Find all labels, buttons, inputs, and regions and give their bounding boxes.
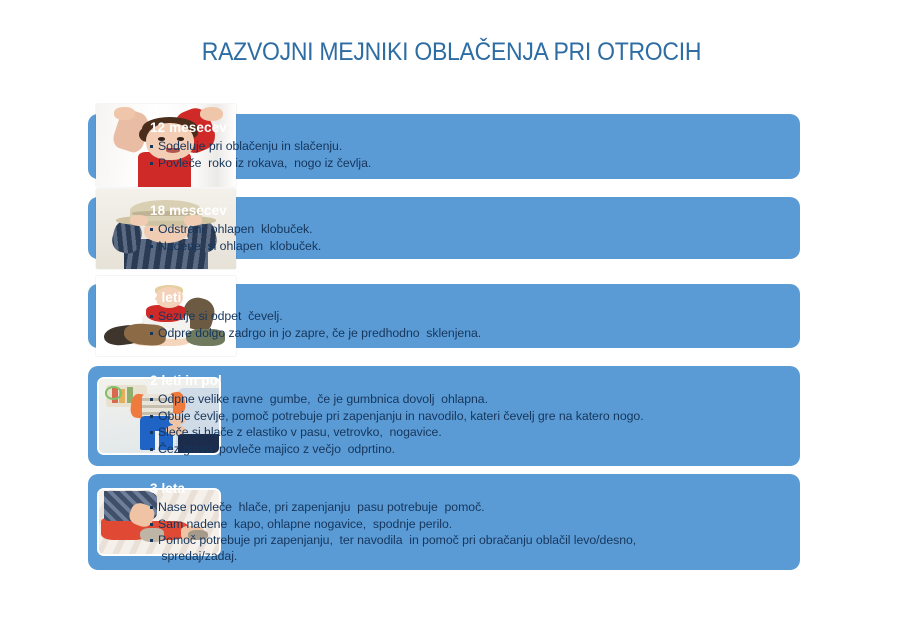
milestone-row: 2 leti in pol Odpne velike ravne gumbe, … xyxy=(0,366,903,474)
milestone-row: 12 mesecev Sodeluje pri oblačenju in sla… xyxy=(0,104,903,189)
bullet-item: Sodeluje pri oblačenju in slačenju. xyxy=(150,139,893,155)
milestone-row: 3 leta Nase povleče hlače, pri zapenjanj… xyxy=(0,474,903,574)
age-heading: 18 mesecev xyxy=(150,203,893,219)
age-heading: 2 leti xyxy=(150,290,893,306)
bullet-item: Sam nadene kapo, ohlapne nogavice, spodn… xyxy=(150,517,893,533)
bullet-list: Sodeluje pri oblačenju in slačenju. Povl… xyxy=(150,139,893,171)
milestone-text: 2 leti Sezuje si odpet čevelj. Odpre dol… xyxy=(150,290,893,342)
bullet-item: Odpne velike ravne gumbe, če je gumbnica… xyxy=(150,392,893,408)
age-heading: 3 leta xyxy=(150,481,893,497)
bullet-list: Nase povleče hlače, pri zapenjanju pasu … xyxy=(150,500,893,564)
milestone-row: 18 mesecev Odstrani ohlapen klobuček. Na… xyxy=(0,189,903,276)
bullet-item: Odpre dolgo zadrgo in jo zapre, če je pr… xyxy=(150,326,893,342)
age-heading: 2 leti in pol xyxy=(150,373,893,389)
bullet-item: Pomoč potrebuje pri zapenjanju, ter navo… xyxy=(150,533,893,564)
bullet-item: Nase povleče hlače, pri zapenjanju pasu … xyxy=(150,500,893,516)
milestone-text: 2 leti in pol Odpne velike ravne gumbe, … xyxy=(150,373,893,458)
milestone-row: 2 leti Sezuje si odpet čevelj. Odpre dol… xyxy=(0,276,903,366)
bullet-item: Čez glavo povleče majico z večjo odprtin… xyxy=(150,442,893,458)
milestone-text: 3 leta Nase povleče hlače, pri zapenjanj… xyxy=(150,481,893,565)
bullet-list: Odstrani ohlapen klobuček. Nadene si ohl… xyxy=(150,222,893,254)
bullet-item: Nadene si ohlapen klobuček. xyxy=(150,239,893,255)
bullet-item: Odstrani ohlapen klobuček. xyxy=(150,222,893,238)
page-title: RAZVOJNI MEJNIKI OBLAČENJA PRI OTROCIH xyxy=(36,38,867,67)
age-heading: 12 mesecev xyxy=(150,120,893,136)
milestone-text: 12 mesecev Sodeluje pri oblačenju in sla… xyxy=(150,120,893,172)
bullet-item: Povleče roko iz rokava, nogo iz čevlja. xyxy=(150,156,893,172)
bullet-item: Sezuje si odpet čevelj. xyxy=(150,309,893,325)
milestone-text: 18 mesecev Odstrani ohlapen klobuček. Na… xyxy=(150,203,893,255)
bullet-item: Obuje čevlje, pomoč potrebuje pri zapenj… xyxy=(150,409,893,425)
bullet-list: Odpne velike ravne gumbe, če je gumbnica… xyxy=(150,392,893,457)
bullet-list: Sezuje si odpet čevelj. Odpre dolgo zadr… xyxy=(150,309,893,341)
milestones-list: 12 mesecev Sodeluje pri oblačenju in sla… xyxy=(0,104,903,574)
bullet-item: Sleče si hlače z elastiko v pasu, vetrov… xyxy=(150,425,893,441)
